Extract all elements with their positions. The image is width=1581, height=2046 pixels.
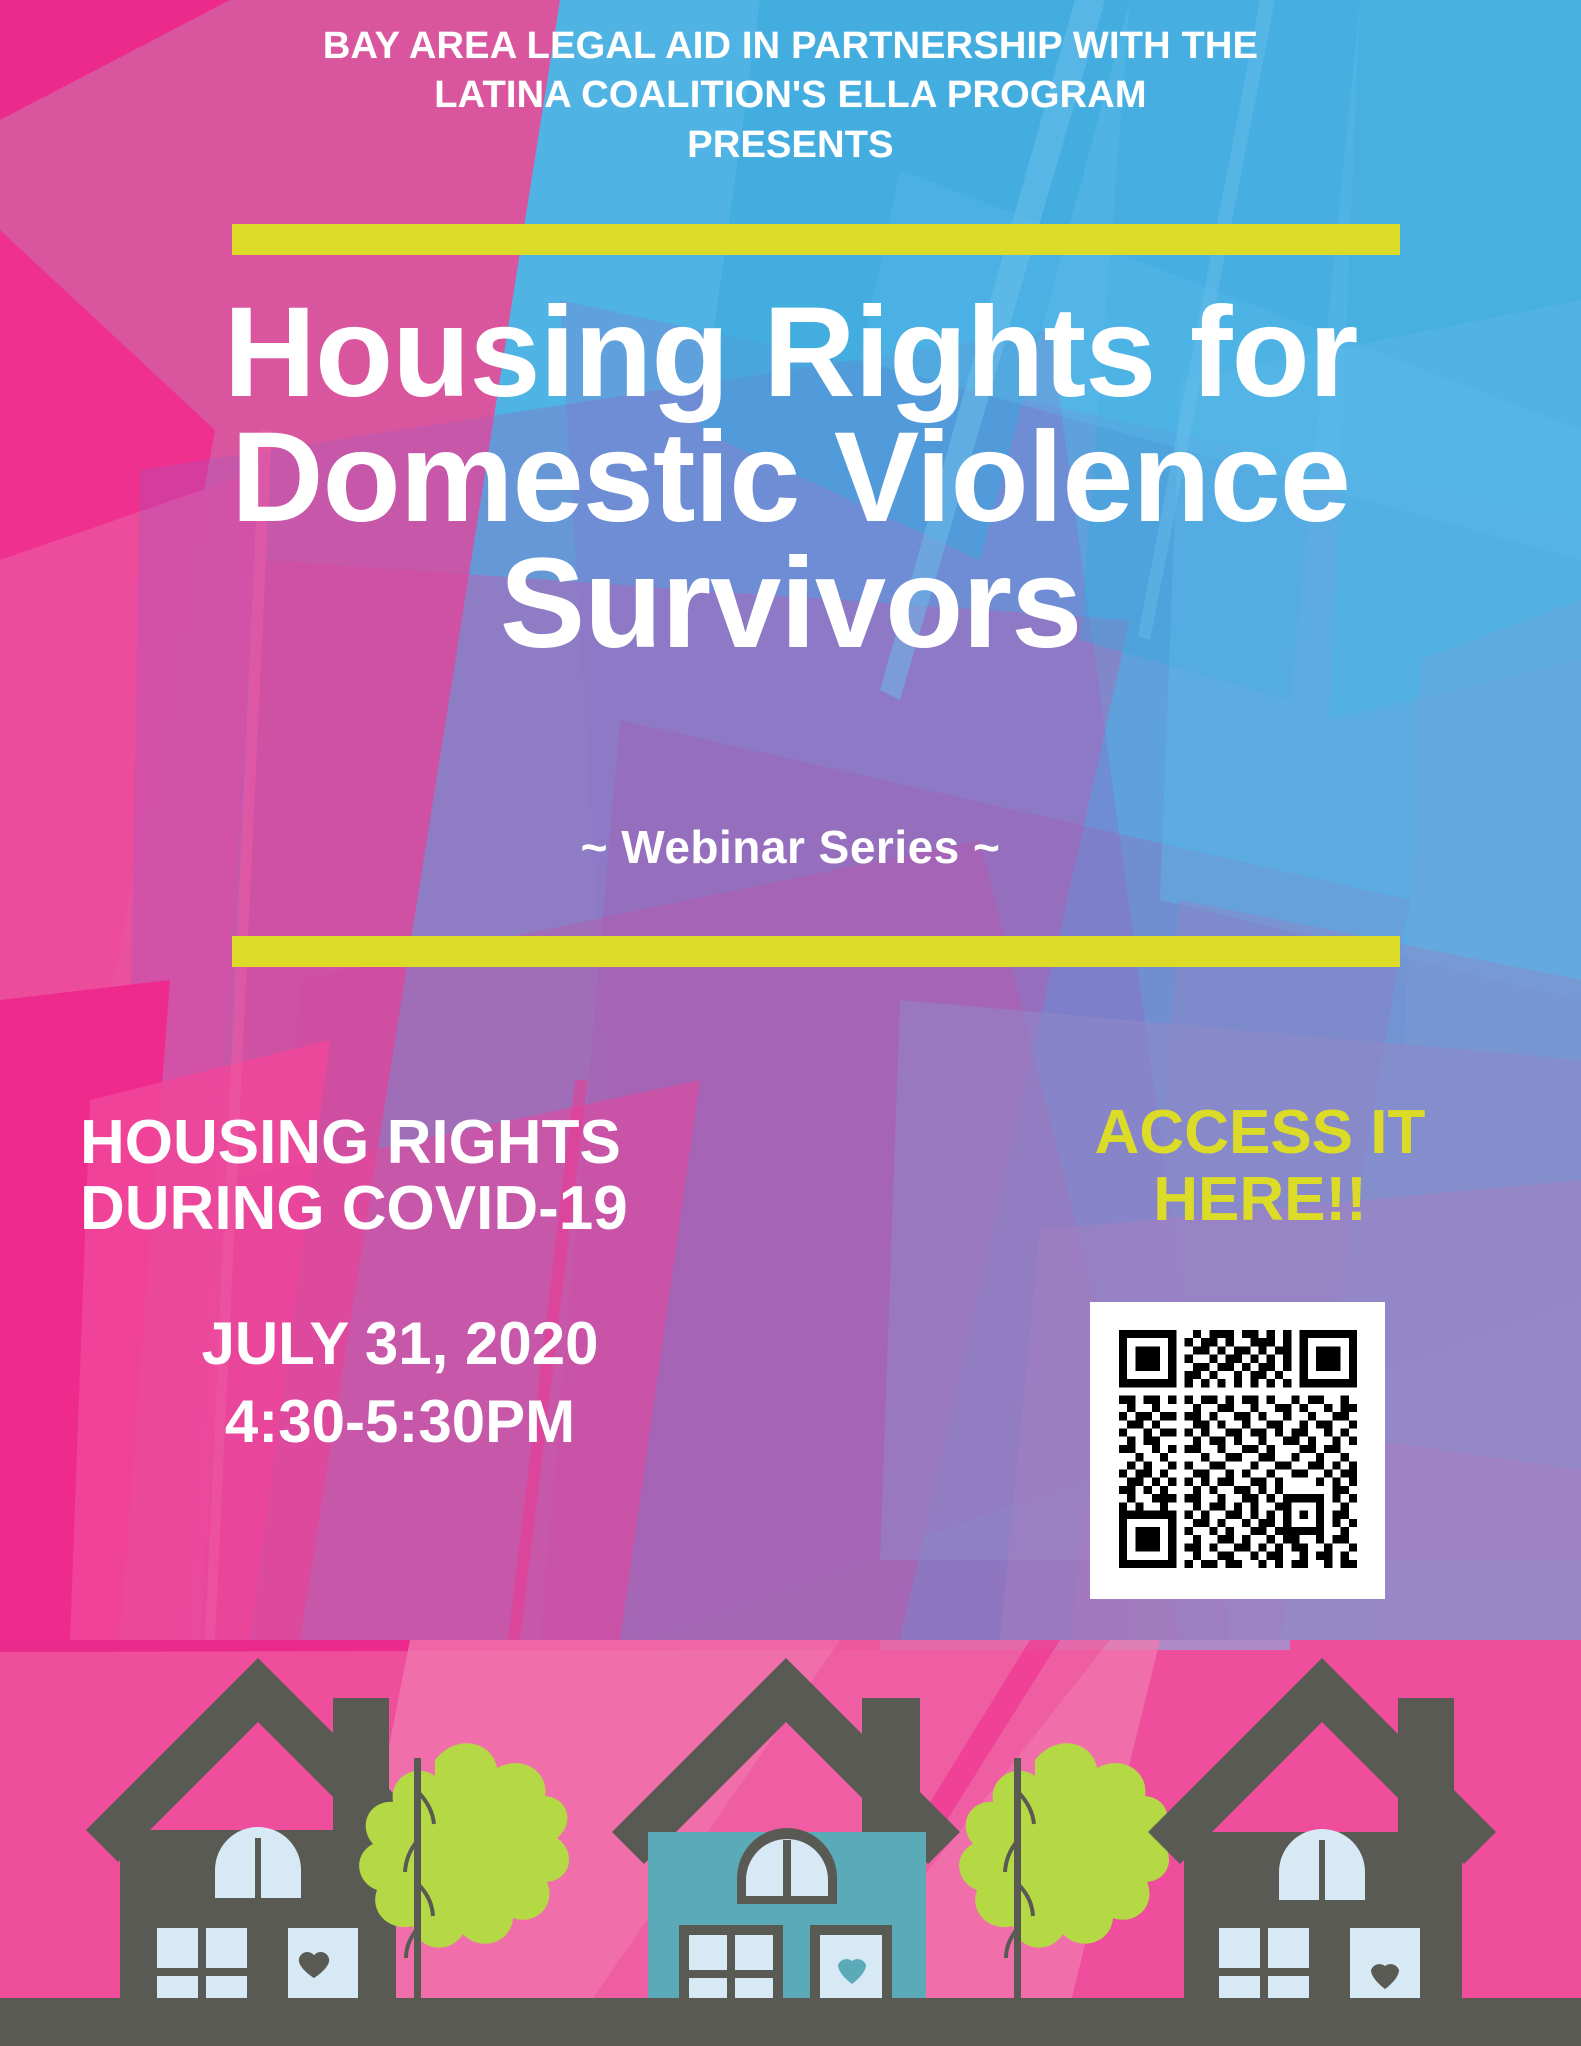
event-topic-line-2: DURING COVID-19 [80,1176,840,1242]
title-line-2: Domestic Violence [50,415,1531,540]
header-line-2: LATINA COALITION'S ELLA PROGRAM [110,71,1471,120]
access-label-line-2: HERE!! [1020,1167,1500,1234]
event-time: 4:30-5:30PM [80,1383,720,1461]
neighborhood-illustration [0,1640,1581,2046]
divider-rule-top [232,224,1400,255]
access-label-line-1: ACCESS IT [1020,1100,1500,1167]
event-date: JULY 31, 2020 [80,1305,720,1383]
divider-rule-bottom [232,936,1400,967]
organization-header: BAY AREA LEGAL AID IN PARTNERSHIP WITH T… [0,22,1581,170]
header-line-3: PRESENTS [110,121,1471,170]
qr-code-icon[interactable] [1119,1330,1357,1568]
event-datetime: JULY 31, 2020 4:30-5:30PM [80,1305,840,1461]
access-label: ACCESS IT HERE!! [1020,1100,1500,1234]
event-topic: HOUSING RIGHTS DURING COVID-19 [80,1110,840,1241]
page-title: Housing Rights for Domestic Violence Sur… [0,290,1581,666]
event-details: HOUSING RIGHTS DURING COVID-19 JULY 31, … [80,1110,840,1461]
qr-code-card[interactable] [1090,1302,1385,1599]
title-line-3: Survivors [50,541,1531,666]
title-line-1: Housing Rights for [50,290,1531,415]
access-callout: ACCESS IT HERE!! [1020,1100,1500,1234]
header-line-1: BAY AREA LEGAL AID IN PARTNERSHIP WITH T… [110,22,1471,71]
subtitle: ~ Webinar Series ~ [0,820,1581,874]
flyer-poster: BAY AREA LEGAL AID IN PARTNERSHIP WITH T… [0,0,1581,2046]
event-topic-line-1: HOUSING RIGHTS [80,1110,840,1176]
